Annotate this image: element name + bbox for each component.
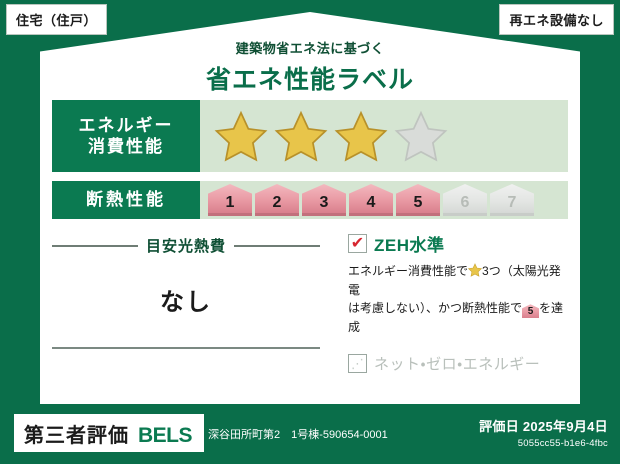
energy-cost-heading: 目安光熱費 xyxy=(52,235,320,256)
insulation-performance-label: 断熱性能 xyxy=(52,181,200,219)
energy-performance-label: 住宅（住戸） 再エネ設備なし 建築物省エネ法に基づく 省エネ性能ラベル エネルギ… xyxy=(0,0,620,464)
evaluation-info: 評価日 2025年9月4日 5055cc55-b1e6-4fbc xyxy=(479,416,608,449)
insulation-performance-row: 断熱性能 1234567 xyxy=(52,181,568,219)
grade-scale: 1234567 xyxy=(208,184,534,216)
grade-badge-number: 2 xyxy=(273,194,282,212)
inline-star-icon xyxy=(468,263,482,277)
zeh-desc-part1: エネルギー消費性能で xyxy=(348,264,468,278)
grade-badge-inactive: 7 xyxy=(490,184,534,216)
grade-badge-number: 7 xyxy=(508,194,517,212)
net-zero-energy-row: ⋰ ネット・ゼロ・エネルギー xyxy=(348,353,568,374)
inline-grade-number: 5 xyxy=(528,306,534,317)
bels-certification-chip: 第三者評価 BELS xyxy=(14,414,204,452)
energy-cost-heading-text: 目安光熱費 xyxy=(146,235,226,256)
property-address: 深谷田所町第2 1号棟-590654-0001 xyxy=(208,426,388,442)
star-filled-icon xyxy=(274,110,328,162)
star-rating xyxy=(214,110,448,162)
grade-badge-number: 3 xyxy=(320,194,329,212)
heading-rule-left xyxy=(52,245,138,247)
grade-badge-achieved: 1 xyxy=(208,184,252,216)
net-zero-checkbox-unchecked[interactable]: ⋰ xyxy=(348,354,367,373)
grade-badge-number: 1 xyxy=(226,194,235,212)
zeh-panel: ✔ ZEH水準 エネルギー消費性能で3つ（太陽光発電は考慮しない）、かつ断熱性能… xyxy=(334,231,568,383)
grade-badge-inactive: 6 xyxy=(443,184,487,216)
energy-performance-row: エネルギー 消費性能 xyxy=(52,100,568,172)
label-footer: 第三者評価 BELS 深谷田所町第2 1号棟-590654-0001 評価日 2… xyxy=(0,404,620,464)
grade-badge-number: 6 xyxy=(461,194,470,212)
grade-badge-number: 5 xyxy=(414,194,423,212)
energy-label-line1: エネルギー xyxy=(79,115,174,136)
building-type-badge: 住宅（住戸） xyxy=(6,4,107,35)
insulation-performance-value: 1234567 xyxy=(200,181,568,219)
zeh-title: ZEH水準 xyxy=(374,231,445,256)
heading-rule-right xyxy=(234,245,320,247)
zeh-heading: ✔ ZEH水準 xyxy=(348,231,568,256)
grade-badge-achieved: 2 xyxy=(255,184,299,216)
energy-cost-panel: 目安光熱費 なし xyxy=(52,231,334,383)
energy-label-line2: 消費性能 xyxy=(88,136,164,157)
energy-performance-label: エネルギー 消費性能 xyxy=(52,100,200,172)
star-empty-icon xyxy=(394,110,448,162)
grade-badge-achieved: 3 xyxy=(302,184,346,216)
energy-cost-value: なし xyxy=(52,282,320,317)
inline-grade-badge: 5 xyxy=(522,304,539,318)
bels-japanese-label: 第三者評価 xyxy=(24,419,129,448)
net-zero-energy-label: ネット・ゼロ・エネルギー xyxy=(374,353,540,374)
zeh-description: エネルギー消費性能で3つ（太陽光発電は考慮しない）、かつ断熱性能で5を達成 xyxy=(348,262,568,337)
grade-badge-achieved: 5 xyxy=(396,184,440,216)
star-filled-icon xyxy=(214,110,268,162)
zeh-checkbox-checked[interactable]: ✔ xyxy=(348,234,367,253)
grade-badge-number: 4 xyxy=(367,194,376,212)
evaluation-date: 評価日 2025年9月4日 xyxy=(479,416,608,435)
renewable-equipment-badge: 再エネ設備なし xyxy=(499,4,614,35)
zeh-desc-part3: は考慮しない）、かつ断熱性能で xyxy=(348,301,522,315)
bottom-section: 目安光熱費 なし ✔ ZEH水準 エネルギー消費性能で3つ（太陽光発電は考慮しな… xyxy=(52,231,568,383)
energy-cost-bottom-rule xyxy=(52,347,320,349)
star-filled-icon xyxy=(334,110,388,162)
bels-logo-text: BELS xyxy=(138,424,192,448)
energy-performance-value xyxy=(200,100,568,172)
grade-badge-achieved: 4 xyxy=(349,184,393,216)
evaluation-id: 5055cc55-b1e6-4fbc xyxy=(479,438,608,449)
label-content: エネルギー 消費性能 断熱性能 1234567 目安光熱費 なし xyxy=(52,100,568,396)
